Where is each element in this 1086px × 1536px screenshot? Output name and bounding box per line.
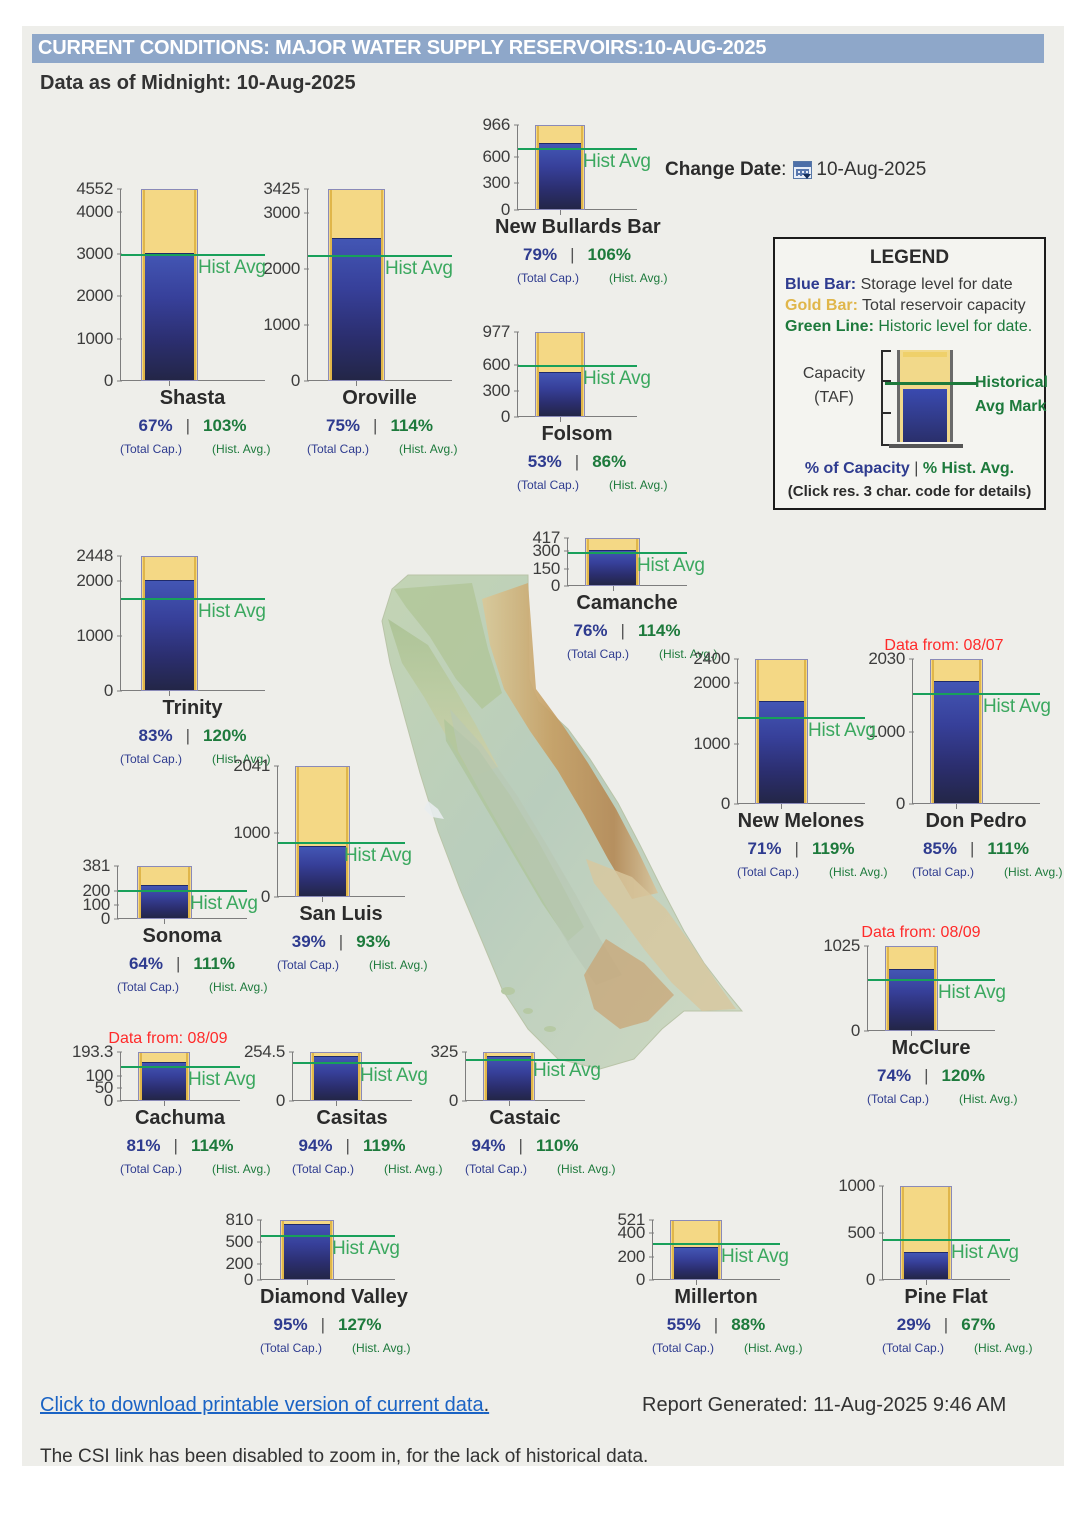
legend-sample-blue-fill — [903, 389, 947, 442]
millerton-ytick-400: 400 — [618, 1223, 652, 1243]
report-page: CURRENT CONDITIONS: MAJOR WATER SUPPLY R… — [22, 26, 1064, 1466]
camanche-name: Camanche — [567, 592, 687, 615]
don-pedro-ytick-2030: 2030 — [868, 649, 912, 669]
reservoir-card-castaic[interactable]: 325 0 Hist Avg Castaic 94%|110% (Total C… — [465, 1052, 655, 1101]
trinity-ytick-1000: 1000 — [76, 626, 120, 646]
pine-flat-hist-avg-line — [883, 1239, 1010, 1241]
oroville-name: Oroville — [307, 387, 452, 410]
casitas-plot: 254.5 0 Hist Avg — [292, 1052, 412, 1101]
reservoir-card-san-luis[interactable]: 2041 1000 0 Hist Avg San Luis 39%|93% (T… — [277, 766, 467, 897]
trinity-name: Trinity — [120, 697, 265, 720]
trinity-hist-avg-line — [121, 598, 265, 600]
trinity-hist-avg-label: Hist Avg — [198, 601, 266, 623]
folsom-percentages: 53%|86% — [517, 452, 637, 472]
diamond-valley-percentages: 95%|127% — [260, 1315, 395, 1335]
pine-flat-storage-bar — [904, 1252, 948, 1279]
shasta-ytick-3000: 3000 — [76, 244, 120, 264]
casitas-hist-avg-line — [293, 1062, 412, 1064]
pine-flat-hist-avg-label: Hist Avg — [951, 1242, 1019, 1264]
new-bullards-bar-plot: 966 600 300 0 Hist Avg — [517, 125, 637, 210]
pine-flat-plot: 1000 500 0 Hist Avg — [882, 1186, 1010, 1280]
new-bullards-bar-capacity-bar[interactable] — [535, 125, 585, 210]
legend-gold-bar-row: Gold Bar: Total reservoir capacity — [785, 297, 1034, 315]
csi-disabled-note: The CSI link has been disabled to zoom i… — [40, 1446, 648, 1468]
legend-capacity-word: Capacity — [803, 365, 865, 382]
download-printable-link[interactable]: Click to download printable version of c… — [40, 1394, 489, 1417]
san-luis-name: San Luis — [277, 903, 405, 926]
legend-sample-bar — [897, 350, 953, 442]
casitas-name: Casitas — [292, 1107, 412, 1130]
sonoma-percentages: 64%|111% — [117, 954, 247, 974]
shasta-sublabels: (Total Cap.)(Hist. Avg.) — [120, 442, 265, 456]
sonoma-capacity-bar[interactable] — [137, 866, 192, 919]
diamond-valley-plot: 810 500 200 0 Hist Avg — [260, 1220, 395, 1280]
folsom-plot: 977 600 300 0 Hist Avg — [517, 332, 637, 417]
nbb-ytick-300: 300 — [483, 173, 517, 193]
legend-green-key: Green Line: — [785, 318, 874, 335]
san-luis-sublabels: (Total Cap.)(Hist. Avg.) — [277, 958, 405, 972]
legend-footer-hist: % Hist. Avg. — [923, 460, 1014, 477]
new-bullards-bar-hist-avg-label: Hist Avg — [583, 151, 651, 173]
castaic-plot: 325 0 Hist Avg — [465, 1052, 585, 1101]
cachuma-hist-avg-line — [121, 1066, 240, 1068]
legend-blue-key: Blue Bar: — [785, 276, 856, 293]
legend-capacity-brace — [881, 350, 891, 446]
don-pedro-hist-avg-label: Hist Avg — [983, 696, 1051, 718]
diamond-valley-storage-bar — [284, 1224, 330, 1279]
oroville-hist-avg-label: Hist Avg — [385, 258, 453, 280]
millerton-plot: 521 400 200 0 Hist Avg — [652, 1220, 780, 1280]
oroville-ytick-3000: 3000 — [263, 203, 307, 223]
report-generated-label: Report Generated: 11-Aug-2025 9:46 AM — [642, 1394, 1006, 1417]
pine-flat-percentages: 29%|67% — [882, 1315, 1010, 1335]
san-luis-ytick-2041: 2041 — [233, 756, 277, 776]
oroville-storage-bar — [332, 238, 381, 381]
sonoma-name: Sonoma — [117, 925, 247, 948]
cachuma-capacity-bar[interactable] — [138, 1052, 190, 1101]
shasta-ytick-4000: 4000 — [76, 202, 120, 222]
sonoma-hist-avg-label: Hist Avg — [190, 893, 258, 915]
folsom-sublabels: (Total Cap.)(Hist. Avg.) — [517, 478, 637, 492]
diamond-valley-name: Diamond Valley — [260, 1286, 395, 1309]
trinity-storage-bar — [145, 580, 194, 690]
page-title: CURRENT CONDITIONS: MAJOR WATER SUPPLY R… — [32, 34, 1044, 63]
castaic-percentages: 94%|110% — [465, 1136, 585, 1156]
shasta-ytick-1000: 1000 — [76, 329, 120, 349]
camanche-ytick-300: 300 — [533, 541, 567, 561]
oroville-capacity-bar[interactable] — [328, 189, 385, 381]
san-luis-ytick-1000: 1000 — [233, 823, 277, 843]
shasta-storage-bar — [145, 253, 194, 380]
oroville-ytick-1000: 1000 — [263, 315, 307, 335]
pine-flat-sublabels: (Total Cap.)(Hist. Avg.) — [882, 1341, 1010, 1355]
mcclure-hist-avg-label: Hist Avg — [938, 982, 1006, 1004]
shasta-y-axis — [120, 189, 121, 381]
folsom-hist-avg-line — [518, 365, 637, 367]
sonoma-ytick-381: 381 — [83, 856, 117, 876]
new-melones-percentages: 71%|119% — [737, 839, 865, 859]
reservoir-card-trinity[interactable]: 2448 2000 1000 0 Hist Avg Trinity 83%|12… — [120, 556, 310, 691]
legend-gold-text: Total reservoir capacity — [862, 297, 1026, 314]
new-bullards-bar-storage-bar — [539, 143, 581, 209]
millerton-sublabels: (Total Cap.)(Hist. Avg.) — [652, 1341, 780, 1355]
shasta-hist-avg-line — [121, 254, 265, 256]
oroville-percentages: 75%|114% — [307, 416, 452, 436]
shasta-ytick-4552: 4552 — [76, 179, 120, 199]
folsom-ytick-977: 977 — [483, 322, 517, 342]
legend-hist-mark-line2: Avg Mark — [975, 398, 1046, 415]
data-as-of-label: Data as of Midnight: 10-Aug-2025 — [40, 72, 356, 95]
new-bullards-bar-sublabels: (Total Cap.)(Hist. Avg.) — [517, 271, 637, 285]
diamond-valley-hist-avg-line — [261, 1235, 395, 1237]
don-pedro-storage-bar — [934, 681, 979, 803]
folsom-ytick-600: 600 — [483, 355, 517, 375]
san-luis-storage-bar — [299, 846, 346, 896]
legend-green-text: Historic level for date. — [878, 318, 1032, 335]
oroville-hist-avg-line — [308, 255, 452, 257]
mcclure-sublabels: (Total Cap.)(Hist. Avg.) — [867, 1092, 995, 1106]
cachuma-percentages: 81%|114% — [120, 1136, 240, 1156]
new-melones-name: New Melones — [737, 810, 865, 833]
diamond-valley-capacity-bar[interactable] — [280, 1220, 334, 1280]
legend-sample-green-line — [885, 382, 977, 385]
map-channel-island-2 — [523, 1008, 533, 1014]
new-bullards-bar-hist-avg-line — [518, 148, 637, 150]
legend-capacity-label: Capacity (TAF) — [791, 362, 877, 410]
san-luis-hist-avg-label: Hist Avg — [344, 845, 412, 867]
reservoir-card-folsom[interactable]: 977 600 300 0 Hist Avg Folsom 53%|86% (T… — [517, 332, 707, 417]
legend-blue-text: Storage level for date — [861, 276, 1013, 293]
legend-footer-capacity: % of Capacity — [805, 460, 910, 477]
diamond-valley-ytick-810: 810 — [226, 1210, 260, 1230]
oroville-plot: 3425 3000 2000 1000 0 Hist Avg — [307, 189, 452, 381]
sonoma-sublabels: (Total Cap.)(Hist. Avg.) — [117, 980, 247, 994]
don-pedro-hist-avg-line — [913, 693, 1040, 695]
reservoir-card-new-bullards-bar[interactable]: 966 600 300 0 Hist Avg New Bullards Bar … — [517, 125, 707, 210]
don-pedro-sublabels: (Total Cap.)(Hist. Avg.) — [912, 865, 1040, 879]
map-channel-island-3 — [544, 1026, 556, 1032]
shasta-plot: 4552 4000 3000 2000 1000 0 Hist Avg — [120, 189, 265, 381]
shasta-pct-hist: 103% — [203, 416, 246, 435]
legend-sample-gold-top — [903, 352, 947, 357]
camanche-storage-bar — [589, 550, 636, 585]
casitas-capacity-bar[interactable] — [310, 1052, 362, 1101]
reservoir-card-camanche[interactable]: 417 300 150 0 Hist Avg Camanche 76%|114%… — [567, 538, 757, 586]
shasta-pct-capacity: 67% — [139, 416, 173, 435]
cachuma-name: Cachuma — [120, 1107, 240, 1130]
camanche-hist-avg-label: Hist Avg — [637, 555, 705, 577]
san-luis-plot: 2041 1000 0 Hist Avg — [277, 766, 405, 897]
castaic-hist-avg-label: Hist Avg — [533, 1060, 601, 1082]
millerton-storage-bar — [674, 1247, 718, 1279]
millerton-capacity-bar[interactable] — [670, 1220, 722, 1280]
camanche-percentages: 76%|114% — [567, 621, 687, 641]
sonoma-hist-avg-line — [118, 890, 247, 892]
reservoir-card-diamond-valley[interactable]: 810 500 200 0 Hist Avg Diamond Valley 95… — [260, 1220, 450, 1280]
trinity-capacity-bar[interactable] — [141, 556, 198, 691]
san-luis-capacity-bar[interactable] — [295, 766, 350, 897]
map-channel-island-1 — [501, 987, 515, 995]
legend-hist-mark-line1: Historical — [975, 374, 1048, 391]
legend-blue-bar-row: Blue Bar: Storage level for date — [785, 276, 1034, 294]
camanche-sublabels: (Total Cap.)(Hist. Avg.) — [567, 647, 687, 661]
pine-flat-ytick-500: 500 — [848, 1223, 882, 1243]
castaic-sublabels: (Total Cap.)(Hist. Avg.) — [465, 1162, 585, 1176]
mcclure-hist-avg-line — [868, 979, 995, 981]
new-melones-hist-avg-label: Hist Avg — [808, 720, 876, 742]
reservoir-card-pine-flat[interactable]: 1000 500 0 Hist Avg Pine Flat 29%|67% (T… — [882, 1186, 1072, 1280]
new-melones-plot: 2400 2000 1000 0 Hist Avg — [737, 659, 865, 804]
san-luis-hist-avg-line — [278, 842, 405, 844]
new-melones-capacity-bar[interactable] — [755, 659, 808, 804]
camanche-capacity-bar[interactable] — [585, 538, 640, 586]
legend-hist-mark-label: Historical Avg Mark — [975, 371, 1048, 419]
mcclure-capacity-bar[interactable] — [885, 946, 938, 1031]
new-bullards-bar-percentages: 79%|106% — [517, 245, 637, 265]
new-melones-sublabels: (Total Cap.)(Hist. Avg.) — [737, 865, 865, 879]
trinity-ytick-2000: 2000 — [76, 571, 120, 591]
diamond-valley-ytick-500: 500 — [226, 1232, 260, 1252]
folsom-ytick-300: 300 — [483, 381, 517, 401]
download-link-text: Click to download printable version of c… — [40, 1394, 484, 1416]
cachuma-sublabels: (Total Cap.)(Hist. Avg.) — [120, 1162, 240, 1176]
camanche-plot: 417 300 150 0 Hist Avg — [567, 538, 687, 586]
legend-capacity-units: (TAF) — [814, 389, 854, 406]
don-pedro-plot: 2030 1000 0 Hist Avg — [912, 659, 1040, 804]
nbb-ytick-600: 600 — [483, 147, 517, 167]
pine-flat-name: Pine Flat — [882, 1286, 1010, 1309]
legend-title: LEGEND — [785, 247, 1034, 269]
new-melones-ytick-2400: 2400 — [693, 649, 737, 669]
cachuma-ytick-193: 193.3 — [72, 1042, 120, 1062]
oroville-ytick-3425: 3425 — [263, 179, 307, 199]
mcclure-data-from: Data from: 08/09 — [857, 924, 985, 942]
new-melones-ytick-1000: 1000 — [693, 734, 737, 754]
trinity-ytick-2448: 2448 — [76, 546, 120, 566]
oroville-ytick-2000: 2000 — [263, 259, 307, 279]
legend-footer: % of Capacity | % Hist. Avg. — [775, 460, 1044, 478]
folsom-capacity-bar[interactable] — [535, 332, 585, 417]
millerton-hist-avg-label: Hist Avg — [721, 1246, 789, 1268]
don-pedro-name: Don Pedro — [912, 810, 1040, 833]
reservoir-card-don-pedro[interactable]: Data from: 08/07 2030 1000 0 Hist Avg Do… — [912, 659, 1086, 804]
millerton-name: Millerton — [652, 1286, 780, 1309]
mcclure-plot: 1025 0 Hist Avg — [867, 946, 995, 1031]
diamond-valley-hist-avg-label: Hist Avg — [332, 1238, 400, 1260]
mcclure-percentages: 74%|120% — [867, 1066, 995, 1086]
mcclure-ytick-1025: 1025 — [823, 936, 867, 956]
diamond-valley-sublabels: (Total Cap.)(Hist. Avg.) — [260, 1341, 395, 1355]
download-link-period: . — [484, 1394, 490, 1416]
shasta-hist-avg-label: Hist Avg — [198, 257, 266, 279]
castaic-storage-bar — [487, 1056, 531, 1100]
trinity-percentages: 83%|120% — [120, 726, 265, 746]
folsom-name: Folsom — [517, 423, 637, 446]
camanche-hist-avg-line — [568, 552, 687, 554]
legend-footer-separator: | — [914, 460, 918, 477]
pine-flat-capacity-bar[interactable] — [900, 1186, 952, 1280]
new-bullards-bar-name: New Bullards Bar — [495, 216, 615, 239]
calendar-dropdown-icon[interactable] — [793, 161, 812, 179]
pine-flat-ytick-1000: 1000 — [838, 1176, 882, 1196]
new-melones-ytick-2000: 2000 — [693, 673, 737, 693]
folsom-hist-avg-label: Hist Avg — [583, 368, 651, 390]
millerton-percentages: 55%|88% — [652, 1315, 780, 1335]
legend-sample-base — [889, 444, 963, 448]
change-date-value: 10-Aug-2025 — [816, 159, 926, 181]
legend-click-note: (Click res. 3 char. code for details) — [775, 483, 1044, 500]
reservoir-card-oroville[interactable]: 3425 3000 2000 1000 0 Hist Avg Oroville … — [307, 189, 497, 381]
casitas-percentages: 94%|119% — [292, 1136, 412, 1156]
mcclure-storage-bar — [889, 969, 934, 1030]
sonoma-plot: 381 200 100 0 Hist Avg — [117, 866, 247, 919]
chevron-down-icon — [803, 174, 811, 179]
oroville-sublabels: (Total Cap.)(Hist. Avg.) — [307, 442, 452, 456]
castaic-name: Castaic — [465, 1107, 585, 1130]
millerton-hist-avg-line — [653, 1243, 780, 1245]
casitas-sublabels: (Total Cap.)(Hist. Avg.) — [292, 1162, 412, 1176]
cachuma-data-from: Data from: 08/09 — [108, 1030, 228, 1048]
castaic-ytick-325: 325 — [431, 1042, 465, 1062]
reservoir-card-mcclure[interactable]: Data from: 08/09 1025 0 Hist Avg McClure… — [867, 946, 1057, 1031]
calendar-icon-header — [794, 162, 811, 167]
millerton-ytick-200: 200 — [618, 1247, 652, 1267]
nbb-ytick-966: 966 — [483, 115, 517, 135]
mcclure-name: McClure — [867, 1037, 995, 1060]
change-date-colon: : — [781, 159, 786, 181]
cachuma-plot: 193.3 100 50 0 Hist Avg — [120, 1052, 240, 1101]
shasta-name: Shasta — [120, 387, 265, 410]
don-pedro-capacity-bar[interactable] — [930, 659, 983, 804]
cachuma-hist-avg-label: Hist Avg — [188, 1069, 256, 1091]
shasta-capacity-bar[interactable] — [141, 189, 198, 381]
legend-gold-key: Gold Bar: — [785, 297, 858, 314]
don-pedro-percentages: 85%|111% — [912, 839, 1040, 859]
legend-box: LEGEND Blue Bar: Storage level for date … — [773, 237, 1046, 510]
legend-green-line-row: Green Line: Historic level for date. — [785, 318, 1034, 336]
san-luis-percentages: 39%|93% — [277, 932, 405, 952]
reservoir-card-millerton[interactable]: 521 400 200 0 Hist Avg Millerton 55%|88%… — [652, 1220, 842, 1280]
shasta-percentages: 67%|103% — [120, 416, 265, 436]
casitas-hist-avg-label: Hist Avg — [360, 1065, 428, 1087]
legend-diagram: Capacity (TAF) Historical Avg Mark — [785, 344, 1034, 452]
shasta-ytick-2000: 2000 — [76, 286, 120, 306]
trinity-plot: 2448 2000 1000 0 Hist Avg — [120, 556, 265, 691]
folsom-storage-bar — [539, 372, 581, 416]
casitas-ytick-254: 254.5 — [244, 1042, 292, 1062]
new-melones-hist-avg-line — [738, 717, 865, 719]
